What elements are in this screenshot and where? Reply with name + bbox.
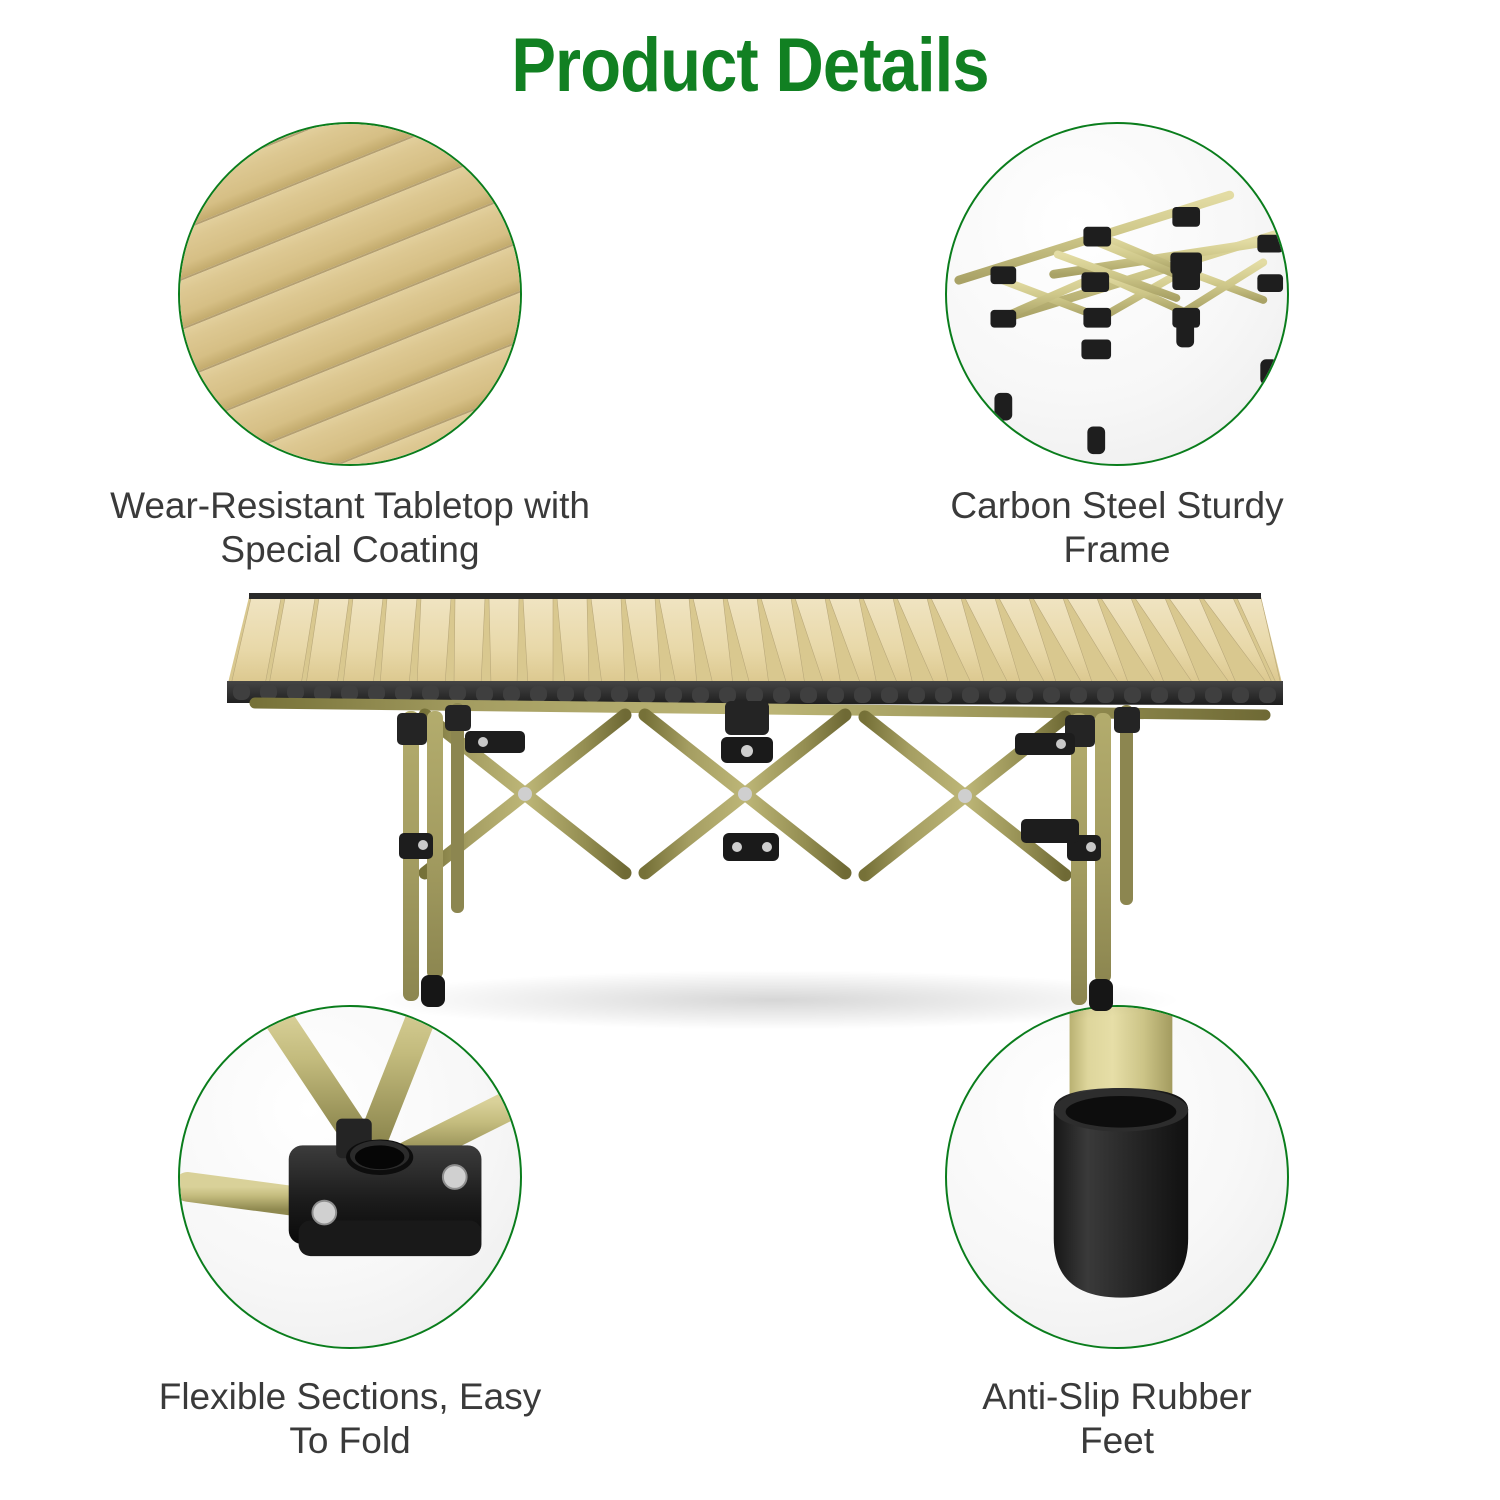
rubber-foot-icon: [947, 1007, 1287, 1347]
caption-line: Flexible Sections, Easy: [0, 1375, 700, 1419]
caption-line: To Fold: [0, 1419, 700, 1463]
joint-closeup-circle: [178, 1005, 522, 1349]
rubber-foot: [1089, 979, 1113, 1011]
caption-line: Special Coating: [0, 528, 700, 572]
rubber-foot: [421, 975, 445, 1007]
leg-joint: [397, 713, 427, 745]
tabletop-closeup-circle: [178, 122, 522, 466]
caption-tabletop: Wear-Resistant Tabletop with Special Coa…: [0, 484, 700, 572]
caption-line: Feet: [767, 1419, 1467, 1463]
brace-pivot: [958, 789, 972, 803]
tabletop-slats-icon: [178, 122, 522, 466]
frame-closeup-circle: [945, 122, 1289, 466]
brace-pivot: [518, 787, 532, 801]
brace-pivot: [738, 787, 752, 801]
caption-rubber-foot: Anti-Slip Rubber Feet: [767, 1375, 1467, 1463]
page-title: Product Details: [90, 24, 1410, 108]
caption-line: Frame: [767, 528, 1467, 572]
caption-line: Anti-Slip Rubber: [767, 1375, 1467, 1419]
caption-line: Carbon Steel Sturdy: [767, 484, 1467, 528]
leg-front-right: [1065, 713, 1113, 1011]
folding-joint-icon: [180, 1007, 520, 1347]
leg-front-left: [397, 711, 445, 1007]
product-image-folding-table: [225, 575, 1285, 1035]
caption-frame: Carbon Steel Sturdy Frame: [767, 484, 1467, 572]
leg-clamp: [399, 833, 433, 859]
table-frame: [225, 693, 1285, 1038]
steel-frame-icon: [947, 124, 1287, 464]
caption-joint: Flexible Sections, Easy To Fold: [0, 1375, 700, 1463]
product-details-infographic: Product Details Wear-Resistant Tabletop: [0, 0, 1500, 1500]
rubber-foot-closeup-circle: [945, 1005, 1289, 1349]
caption-line: Wear-Resistant Tabletop with: [0, 484, 700, 528]
leg-back-right: [1114, 705, 1140, 905]
tabletop: [225, 575, 1285, 710]
